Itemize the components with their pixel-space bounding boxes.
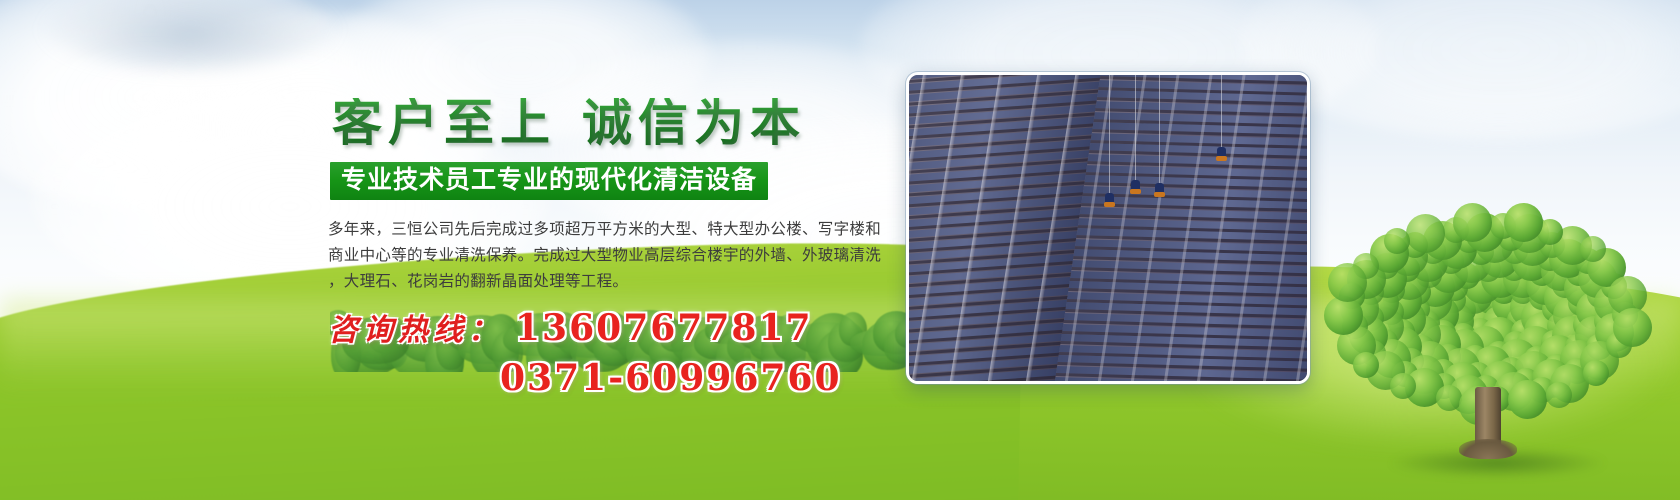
- headline-part-1: 客户至上: [332, 93, 556, 152]
- foliage-clump: [1508, 380, 1547, 419]
- description-line-3: ，大理石、花岗岩的翻新晶面处理等工程。: [328, 268, 908, 294]
- foliage-clump: [1406, 214, 1445, 253]
- description-line-1: 多年来，三恒公司先后完成过多项超万平方米的大型、特大型办公楼、写字楼和: [328, 216, 908, 242]
- foliage-clump: [1613, 308, 1652, 347]
- worker-figure: [1131, 180, 1140, 194]
- worker-rope: [1221, 75, 1222, 147]
- subtitle-text: 专业技术员工专业的现代化清洁设备: [341, 167, 757, 193]
- foliage-clump: [1546, 382, 1572, 408]
- foliage-clump: [1384, 228, 1410, 254]
- page-title: 客户至上诚信为本: [332, 98, 922, 148]
- worker-rope: [1135, 75, 1136, 180]
- headline-part-2: 诚信为本: [582, 93, 806, 152]
- hotline-mobile-number[interactable]: 13607677817: [515, 308, 813, 350]
- worker-figure: [1105, 193, 1114, 207]
- foliage-clump: [1580, 236, 1606, 262]
- promo-banner: 客户至上诚信为本 专业技术员工专业的现代化清洁设备 多年来，三恒公司先后完成过多…: [0, 0, 1680, 500]
- description-paragraph: 多年来，三恒公司先后完成过多项超万平方米的大型、特大型办公楼、写字楼和 商业中心…: [328, 216, 908, 294]
- worker-figure: [1155, 183, 1164, 197]
- hotline-block: 咨询热线： 13607677817 0371-60996760: [328, 308, 922, 400]
- worker-figure: [1217, 147, 1226, 161]
- tree-trunk: [1475, 387, 1501, 459]
- hotline-label: 咨询热线：: [328, 314, 503, 349]
- hotline-landline-number[interactable]: 0371-60996760: [500, 358, 842, 400]
- copy-block: 客户至上诚信为本 专业技术员工专业的现代化清洁设备 多年来，三恒公司先后完成过多…: [322, 98, 922, 400]
- foliage-clump: [1504, 203, 1543, 242]
- description-line-2: 商业中心等的专业清洗保养。完成过大型物业高层综合楼宇的外墙、外玻璃清洗: [328, 242, 908, 268]
- oak-tree: [1330, 205, 1660, 470]
- subtitle-badge: 专业技术员工专业的现代化清洁设备: [330, 162, 768, 200]
- building-photo: [909, 75, 1307, 381]
- foliage-clump: [1353, 352, 1379, 378]
- hotline-row-mobile: 咨询热线： 13607677817: [328, 308, 922, 350]
- building-photo-card[interactable]: [906, 72, 1310, 384]
- worker-rope: [1159, 75, 1160, 183]
- worker-rope: [1109, 75, 1110, 193]
- foliage-clump: [1583, 360, 1609, 386]
- hotline-row-landline: 0371-60996760: [328, 358, 922, 400]
- foliage-clump: [1453, 203, 1492, 242]
